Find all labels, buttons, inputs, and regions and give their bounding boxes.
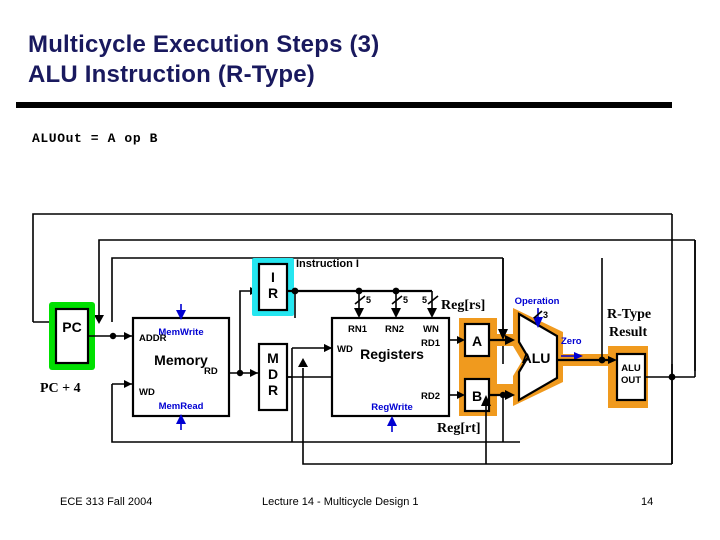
memread-label: MemRead [159, 401, 204, 412]
register-file-block[interactable]: RN1 RN2 WN Registers WD RD1 RD2 RegWrite [332, 318, 449, 416]
registers-label: Registers [360, 346, 424, 362]
ir-label-bottom: R [268, 285, 278, 301]
zero-label: Zero [561, 336, 582, 347]
instruction-bus-label: Instruction I [296, 258, 359, 270]
page-title: Multicycle Execution Steps (3) ALU Instr… [28, 30, 688, 90]
pc-plus-4-annotation: PC + 4 [40, 381, 81, 396]
a-register-label: A [472, 333, 482, 349]
bus-width-rn1: 5 [366, 295, 371, 305]
wire-pc-into-alu-input [498, 258, 508, 340]
memory-data-register[interactable]: M D R [259, 344, 287, 410]
mdr-label-2: D [268, 366, 278, 382]
mips-multicycle-datapath-diagram: PC PC + 4 MemWrite ADDR Memory WD RD Mem… [0, 196, 720, 496]
b-register-label: B [472, 388, 482, 404]
wire-aluout-to-right-rail [645, 240, 695, 464]
reg-rs-annotation: Reg[rs] [441, 298, 485, 313]
regs-rn2-pin: RN2 [385, 324, 404, 335]
wire-mdr-out [287, 344, 332, 377]
r-type-annotation-2: Result [609, 325, 647, 340]
memory-wd-pin: WD [139, 387, 155, 398]
wire-extend-into-alu-input [481, 395, 491, 464]
footer-course: ECE 313 Fall 2004 [60, 496, 152, 508]
regs-rd1-pin: RD1 [421, 338, 441, 349]
instruction-register[interactable]: I R [252, 258, 294, 316]
footer-page-number: 14 [641, 496, 653, 508]
body-code-line: ALUOut = A op B [32, 131, 158, 146]
r-type-annotation-1: R-Type [607, 307, 651, 322]
a-register[interactable]: A [465, 324, 489, 356]
memory-rd-pin: RD [204, 366, 218, 377]
memory-addr-pin: ADDR [139, 333, 167, 344]
ir-label-top: I [271, 269, 275, 285]
footer-lecture: Lecture 14 - Multicycle Design 1 [262, 496, 419, 508]
bus-width-rn2: 5 [403, 295, 408, 305]
operation-label: Operation [515, 296, 560, 307]
regwrite-control-arrow [387, 416, 397, 432]
wire-mdr-to-regs-wd [292, 344, 332, 442]
alu-zero-output: Zero [561, 336, 583, 360]
title-line-1: Multicycle Execution Steps (3) [28, 30, 688, 60]
memory-label: Memory [154, 352, 208, 368]
aluout-label-1: ALU [621, 363, 641, 374]
mdr-label-1: M [267, 350, 279, 366]
regs-rd2-pin: RD2 [421, 391, 440, 402]
pc-label: PC [62, 319, 81, 335]
regs-wn-pin: WN [423, 324, 439, 335]
alu-label: ALU [522, 350, 551, 366]
instruction-bus: Instruction I 5 5 5 [287, 258, 438, 318]
bus-width-operation: 3 [543, 310, 548, 320]
memory-block[interactable]: MemWrite ADDR Memory WD RD MemRead [133, 318, 229, 416]
slide-footer: ECE 313 Fall 2004 Lecture 14 - Multicycl… [0, 496, 720, 516]
regwrite-label: RegWrite [371, 402, 413, 413]
aluout-register[interactable]: ALU OUT [617, 354, 645, 400]
regs-rn1-pin: RN1 [348, 324, 368, 335]
bus-width-wn: 5 [422, 295, 427, 305]
slide-canvas: Multicycle Execution Steps (3) ALU Instr… [0, 0, 720, 540]
title-line-2: ALU Instruction (R-Type) [28, 60, 688, 90]
reg-rt-annotation: Reg[rt] [437, 421, 481, 436]
mdr-label-3: R [268, 382, 278, 398]
title-divider [16, 102, 672, 108]
aluout-label-2: OUT [621, 375, 641, 386]
regs-wd-pin: WD [337, 344, 353, 355]
